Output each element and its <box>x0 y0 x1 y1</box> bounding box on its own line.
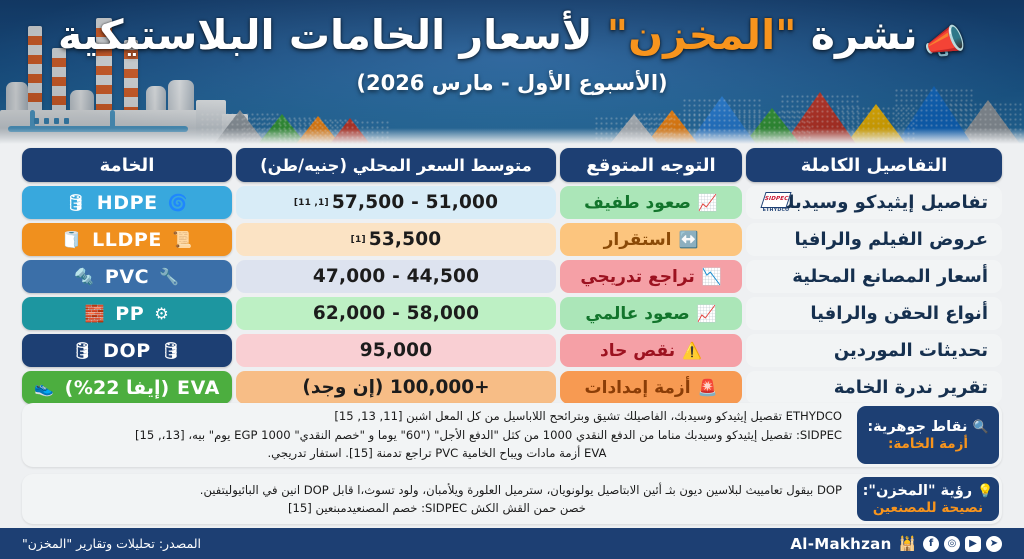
details-cell[interactable]: SIDPECETHYDCOتفاصيل إيثيدكو وسيدبك <box>746 186 1002 219</box>
details-cell[interactable]: أسعار المصانع المحلية <box>746 260 1002 293</box>
warning-triangle-icon: ⚠️ <box>682 343 702 359</box>
film-roll-icon: 🧻 <box>62 232 83 248</box>
vision-label-line2: نصيحة للمصنعين <box>873 500 983 516</box>
lightbulb-icon: 💡 <box>977 484 993 499</box>
injection-parts-icon: 🧱 <box>85 306 106 322</box>
material-name: PVC <box>105 266 149 288</box>
details-cell[interactable]: أنواع الحقن والرافيا <box>746 297 1002 330</box>
mosque-icon: 🕌 <box>899 536 916 552</box>
details-text: عروض الفيلم والرافيا <box>795 229 989 250</box>
trend-text: نقص حاد <box>600 341 675 361</box>
material-name: EVA (إيفا 22%) <box>65 377 220 399</box>
price-cell[interactable]: 58,000 - 62,000 <box>236 297 556 330</box>
key-points-label-line2: أزمة الخامة: <box>888 436 968 452</box>
price-value: 51,000 - 57,500 <box>332 192 498 213</box>
chemical-drum-icon: 🛢 <box>72 343 93 359</box>
trend-text: أزمة إمدادات <box>585 378 691 398</box>
material-name: LLDPE <box>92 229 162 251</box>
sidpec-logo-icon: SIDPECETHYDCO <box>754 189 798 217</box>
key-points-box: 🔍 نقاط جوهرية: أزمة الخامة: ETHYDCO تقصي… <box>22 403 1002 467</box>
infographic-page: 📣نشرة "المخزن" لأسعار الخامات البلاستيكي… <box>0 0 1024 559</box>
details-text: تفاصيل إيثيدكو وسيدبك <box>778 192 988 213</box>
column-header-trend: التوجه المتوقع <box>560 148 742 182</box>
title-suffix: لأسعار الخامات البلاستيكية <box>58 11 607 59</box>
price-value: +100,000 (إن وجد) <box>302 377 489 398</box>
column-header-details: التفاصيل الكاملة <box>746 148 1002 182</box>
table-row[interactable]: تقرير ندرة الخامة🚨أزمة إمدادات+100,000 (… <box>22 371 1002 404</box>
sidpec-logo-icon: 🌀 <box>168 195 189 211</box>
telegram-icon[interactable]: ➤ <box>986 536 1002 552</box>
vision-line: DOP بيقول تعامييث لبلاسين ديون بثـ أئين … <box>32 482 842 498</box>
material-cell[interactable]: 🌀HDPE🛢 <box>22 186 232 219</box>
details-cell[interactable]: تحديثات الموردين <box>746 334 1002 367</box>
trend-cell[interactable]: 📈صعود طفيف <box>560 186 742 219</box>
price-value: 53,500 <box>369 229 442 250</box>
trend-flat-icon: ↔️ <box>679 232 699 248</box>
price-value: 58,000 - 62,000 <box>313 303 479 324</box>
pvc-fittings-icon: 🔩 <box>74 269 95 285</box>
trend-cell[interactable]: 📉تراجع تدريجي <box>560 260 742 293</box>
megaphone-icon: 📣 <box>924 23 966 62</box>
price-value: 95,000 <box>360 340 433 361</box>
material-cell[interactable]: 🛢DOP🛢 <box>22 334 232 367</box>
material-cell[interactable]: 📜LLDPE🧻 <box>22 223 232 256</box>
trend-text: صعود طفيف <box>584 193 691 213</box>
price-reference: [1] <box>351 235 366 245</box>
header-banner: 📣نشرة "المخزن" لأسعار الخامات البلاستيكي… <box>0 0 1024 144</box>
shoe-icon: 👟 <box>34 380 55 396</box>
price-cell[interactable]: +100,000 (إن وجد) <box>236 371 556 404</box>
price-cell[interactable]: 51,000 - 57,500[1, 11] <box>236 186 556 219</box>
trend-text: صعود عالمي <box>585 304 689 324</box>
vision-line: خصن حمن القش الكش SIDPEC: خصم المصنعيدمب… <box>32 500 842 516</box>
trend-down-icon: 📉 <box>702 269 722 285</box>
facebook-icon[interactable]: f <box>923 536 939 552</box>
column-header-material: الخامة <box>22 148 232 182</box>
vision-label: 💡 رؤية "المخزن": نصيحة للمصنعين <box>857 477 999 521</box>
prices-table: التفاصيل الكاملة التوجه المتوقع متوسط ال… <box>22 148 1002 408</box>
details-cell[interactable]: عروض الفيلم والرافيا <box>746 223 1002 256</box>
trend-text: استقرار <box>604 230 672 250</box>
title-highlight: "المخزن" <box>607 11 797 59</box>
material-name: PP <box>115 303 144 325</box>
table-row[interactable]: أنواع الحقن والرافيا📈صعود عالمي58,000 - … <box>22 297 1002 330</box>
footer-bar: Al-Makhzan 🕌 f◎▶➤ المصدر: تحليلات وتقاري… <box>0 528 1024 559</box>
page-title: 📣نشرة "المخزن" لأسعار الخامات البلاستيكي… <box>0 12 1024 62</box>
key-points-line: ETHYDCO تقصيل إيثيدكو وسيدبك، الفاصيلك ت… <box>32 408 842 424</box>
price-cell[interactable]: 95,000 <box>236 334 556 367</box>
material-cell[interactable]: 🔧PVC🔩 <box>22 260 232 293</box>
trend-cell[interactable]: ⚠️نقص حاد <box>560 334 742 367</box>
header-fade <box>0 128 1024 144</box>
trend-cell[interactable]: 📈صعود عالمي <box>560 297 742 330</box>
pipe-icon: 🛢 <box>66 195 87 211</box>
table-row[interactable]: SIDPECETHYDCOتفاصيل إيثيدكو وسيدبك📈صعود … <box>22 186 1002 219</box>
pvc-pipes-icon: 🔧 <box>159 269 180 285</box>
material-cell[interactable]: ⚙PP🧱 <box>22 297 232 330</box>
brand-name: Al-Makhzan <box>790 535 891 553</box>
trend-cell[interactable]: ↔️استقرار <box>560 223 742 256</box>
vision-box: 💡 رؤية "المخزن": نصيحة للمصنعين DOP بيقو… <box>22 474 1002 524</box>
title-prefix: نشرة <box>797 11 918 59</box>
plastic-sheet-icon: 📜 <box>172 232 193 248</box>
details-text: تقرير ندرة الخامة <box>834 377 988 398</box>
vision-body: DOP بيقول تعامييث لبلاسين ديون بثـ أئين … <box>22 474 854 524</box>
trend-cell[interactable]: 🚨أزمة إمدادات <box>560 371 742 404</box>
blue-barrel-icon: 🛢 <box>161 343 182 359</box>
page-subtitle: (الأسبوع الأول - مارس 2026) <box>0 71 1024 95</box>
price-cell[interactable]: 53,500[1] <box>236 223 556 256</box>
table-row[interactable]: أسعار المصانع المحلية📉تراجع تدريجي44,500… <box>22 260 1002 293</box>
key-points-label-line1: نقاط جوهرية: <box>867 419 967 435</box>
material-name: DOP <box>103 340 151 362</box>
youtube-icon[interactable]: ▶ <box>965 536 981 552</box>
trend-up-icon: 📈 <box>697 306 717 322</box>
table-header-row: التفاصيل الكاملة التوجه المتوقع متوسط ال… <box>22 148 1002 182</box>
details-text: أنواع الحقن والرافيا <box>810 303 988 324</box>
molded-parts-icon: ⚙ <box>154 306 169 322</box>
column-header-price: متوسط السعر المحلي (جنيه/طن) <box>236 148 556 182</box>
material-name: HDPE <box>97 192 158 214</box>
key-points-line: SIDPEC: تقصيل إيثيدكو وسيدبك مناما من ال… <box>32 427 842 443</box>
siren-icon: 🚨 <box>698 380 718 396</box>
details-text: تحديثات الموردين <box>834 340 988 361</box>
key-points-line: EVA أزمة مادات ويباح الخامية PVC تراجع ت… <box>32 445 842 461</box>
vision-label-line1: رؤية "المخزن": <box>863 483 973 499</box>
trend-text: تراجع تدريجي <box>580 267 694 287</box>
details-cell[interactable]: تقرير ندرة الخامة <box>746 371 1002 404</box>
details-text: أسعار المصانع المحلية <box>792 266 988 287</box>
price-cell[interactable]: 44,500 - 47,000 <box>236 260 556 293</box>
trend-up-icon: 📈 <box>698 195 718 211</box>
table-row[interactable]: تحديثات الموردين⚠️نقص حاد95,000🛢DOP🛢 <box>22 334 1002 367</box>
material-cell[interactable]: EVA (إيفا 22%)👟 <box>22 371 232 404</box>
key-points-label: 🔍 نقاط جوهرية: أزمة الخامة: <box>857 406 999 464</box>
price-value: 44,500 - 47,000 <box>313 266 479 287</box>
instagram-icon[interactable]: ◎ <box>944 536 960 552</box>
source-text: المصدر: تحليلات وتقارير "المخزن" <box>22 536 201 551</box>
magnifier-icon: 🔍 <box>972 420 988 435</box>
price-reference: [1, 11] <box>294 198 329 208</box>
table-row[interactable]: عروض الفيلم والرافيا↔️استقرار53,500[1]📜L… <box>22 223 1002 256</box>
brand-block: Al-Makhzan 🕌 f◎▶➤ <box>790 535 1002 553</box>
key-points-body: ETHYDCO تقصيل إيثيدكو وسيدبك، الفاصيلك ت… <box>22 403 854 467</box>
